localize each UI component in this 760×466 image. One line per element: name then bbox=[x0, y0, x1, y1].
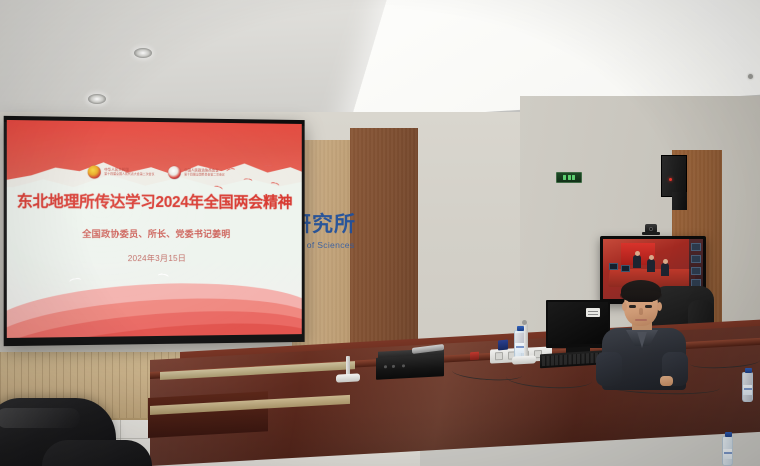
presenter-hand bbox=[660, 376, 673, 386]
microphone-base bbox=[336, 373, 360, 382]
presentation-slide: 中华人民共和国 第十四届全国人民代表大会第二次会议 中国人民政治协商会议 第十四… bbox=[7, 120, 302, 338]
exit-sign bbox=[556, 172, 582, 183]
emblem-line-2: 第十四届全国人民代表大会第二次会议 bbox=[104, 173, 154, 176]
presenter-eye bbox=[645, 305, 652, 308]
chair-highlight bbox=[0, 408, 80, 428]
projection-screen: 中华人民共和国 第十四届全国人民代表大会第二次会议 中国人民政治协商会议 第十四… bbox=[4, 116, 305, 346]
av-knob-icon bbox=[384, 365, 387, 368]
slide-title: 东北地理所传达学习2024年全国两会精神 bbox=[7, 189, 302, 212]
exit-sign-glyph bbox=[563, 175, 566, 180]
camera-base bbox=[642, 232, 660, 235]
downlight-icon bbox=[88, 94, 106, 104]
wall-sign-english: my of Sciences bbox=[296, 240, 354, 250]
presenter-ear bbox=[622, 302, 627, 311]
av-control-box[interactable] bbox=[376, 354, 444, 380]
cppcc-emblem-group: 中国人民政治协商会议 第十四届全国委员会第二次会议 bbox=[168, 166, 224, 179]
remote-monitor bbox=[609, 263, 618, 270]
conference-room-photo: 研究所 my of Sciences bbox=[0, 0, 760, 466]
remote-thumbnail bbox=[691, 243, 701, 251]
remote-participant bbox=[661, 263, 669, 276]
exit-sign-glyph bbox=[568, 175, 571, 180]
slide-subtitle: 全国政协委员、所长、党委书记姜明 bbox=[7, 227, 302, 240]
av-knob-icon bbox=[392, 365, 395, 368]
water-bottle[interactable] bbox=[742, 372, 753, 402]
bottle-cap-icon bbox=[725, 432, 732, 437]
institute-wall-sign: 研究所 my of Sciences bbox=[296, 206, 422, 268]
presenter-nose bbox=[639, 308, 643, 315]
microphone-base bbox=[512, 355, 536, 364]
remote-monitor bbox=[621, 265, 630, 272]
screen-surface: 中华人民共和国 第十四届全国人民代表大会第二次会议 中国人民政治协商会议 第十四… bbox=[7, 120, 302, 338]
bottle-cap-icon bbox=[745, 368, 752, 373]
presenter-arm-left bbox=[596, 352, 622, 386]
remote-thumbnail bbox=[691, 255, 701, 263]
bottle-label bbox=[743, 385, 752, 395]
remote-participant bbox=[633, 255, 641, 268]
table-front-panel bbox=[148, 391, 268, 438]
presenter-ear bbox=[657, 302, 662, 311]
sprinkler-icon bbox=[748, 74, 753, 79]
microphone-head-icon bbox=[522, 320, 527, 325]
national-emblem-icon bbox=[88, 165, 101, 178]
wall-speaker-lower bbox=[672, 192, 687, 210]
slide-emblem-row: 中华人民共和国 第十四届全国人民代表大会第二次会议 中国人民政治协商会议 第十四… bbox=[7, 165, 302, 180]
national-emblem-group: 中华人民共和国 第十四届全国人民代表大会第二次会议 bbox=[88, 165, 154, 179]
bottle-label bbox=[515, 343, 524, 353]
national-emblem-text: 中华人民共和国 第十四届全国人民代表大会第二次会议 bbox=[104, 168, 154, 176]
socket-icon bbox=[495, 352, 503, 360]
seated-presenter bbox=[596, 276, 692, 386]
av-knob-icon bbox=[402, 364, 405, 367]
bottle-label bbox=[723, 449, 732, 459]
downlight-icon bbox=[134, 48, 152, 58]
microphone-stem bbox=[524, 324, 528, 360]
bottle-cap-icon bbox=[517, 326, 524, 331]
cppcc-emblem-icon bbox=[168, 166, 181, 179]
emblem-line-2: 第十四届全国委员会第二次会议 bbox=[184, 173, 225, 176]
water-bottle[interactable] bbox=[722, 436, 733, 466]
dove-icon bbox=[69, 275, 82, 284]
presenter-eye bbox=[629, 305, 636, 308]
wall-speaker bbox=[661, 155, 687, 197]
foreground-chair-seat bbox=[42, 440, 152, 466]
exit-sign-glyph bbox=[572, 175, 575, 180]
presenter-mouth bbox=[635, 319, 647, 321]
camera-lens-icon bbox=[649, 227, 653, 231]
presenter-hair bbox=[621, 280, 661, 302]
remote-participant bbox=[647, 259, 655, 272]
conference-camera bbox=[642, 224, 660, 236]
slide-wave-graphic bbox=[7, 250, 302, 338]
remote-thumbnail bbox=[691, 267, 701, 275]
wall-sign-chinese: 研究所 bbox=[296, 208, 356, 238]
dove-icon bbox=[158, 271, 169, 278]
speaker-led-icon bbox=[669, 178, 672, 181]
power-plug-red bbox=[470, 352, 479, 361]
power-plug bbox=[498, 340, 508, 351]
cppcc-emblem-text: 中国人民政治协商会议 第十四届全国委员会第二次会议 bbox=[184, 169, 225, 177]
